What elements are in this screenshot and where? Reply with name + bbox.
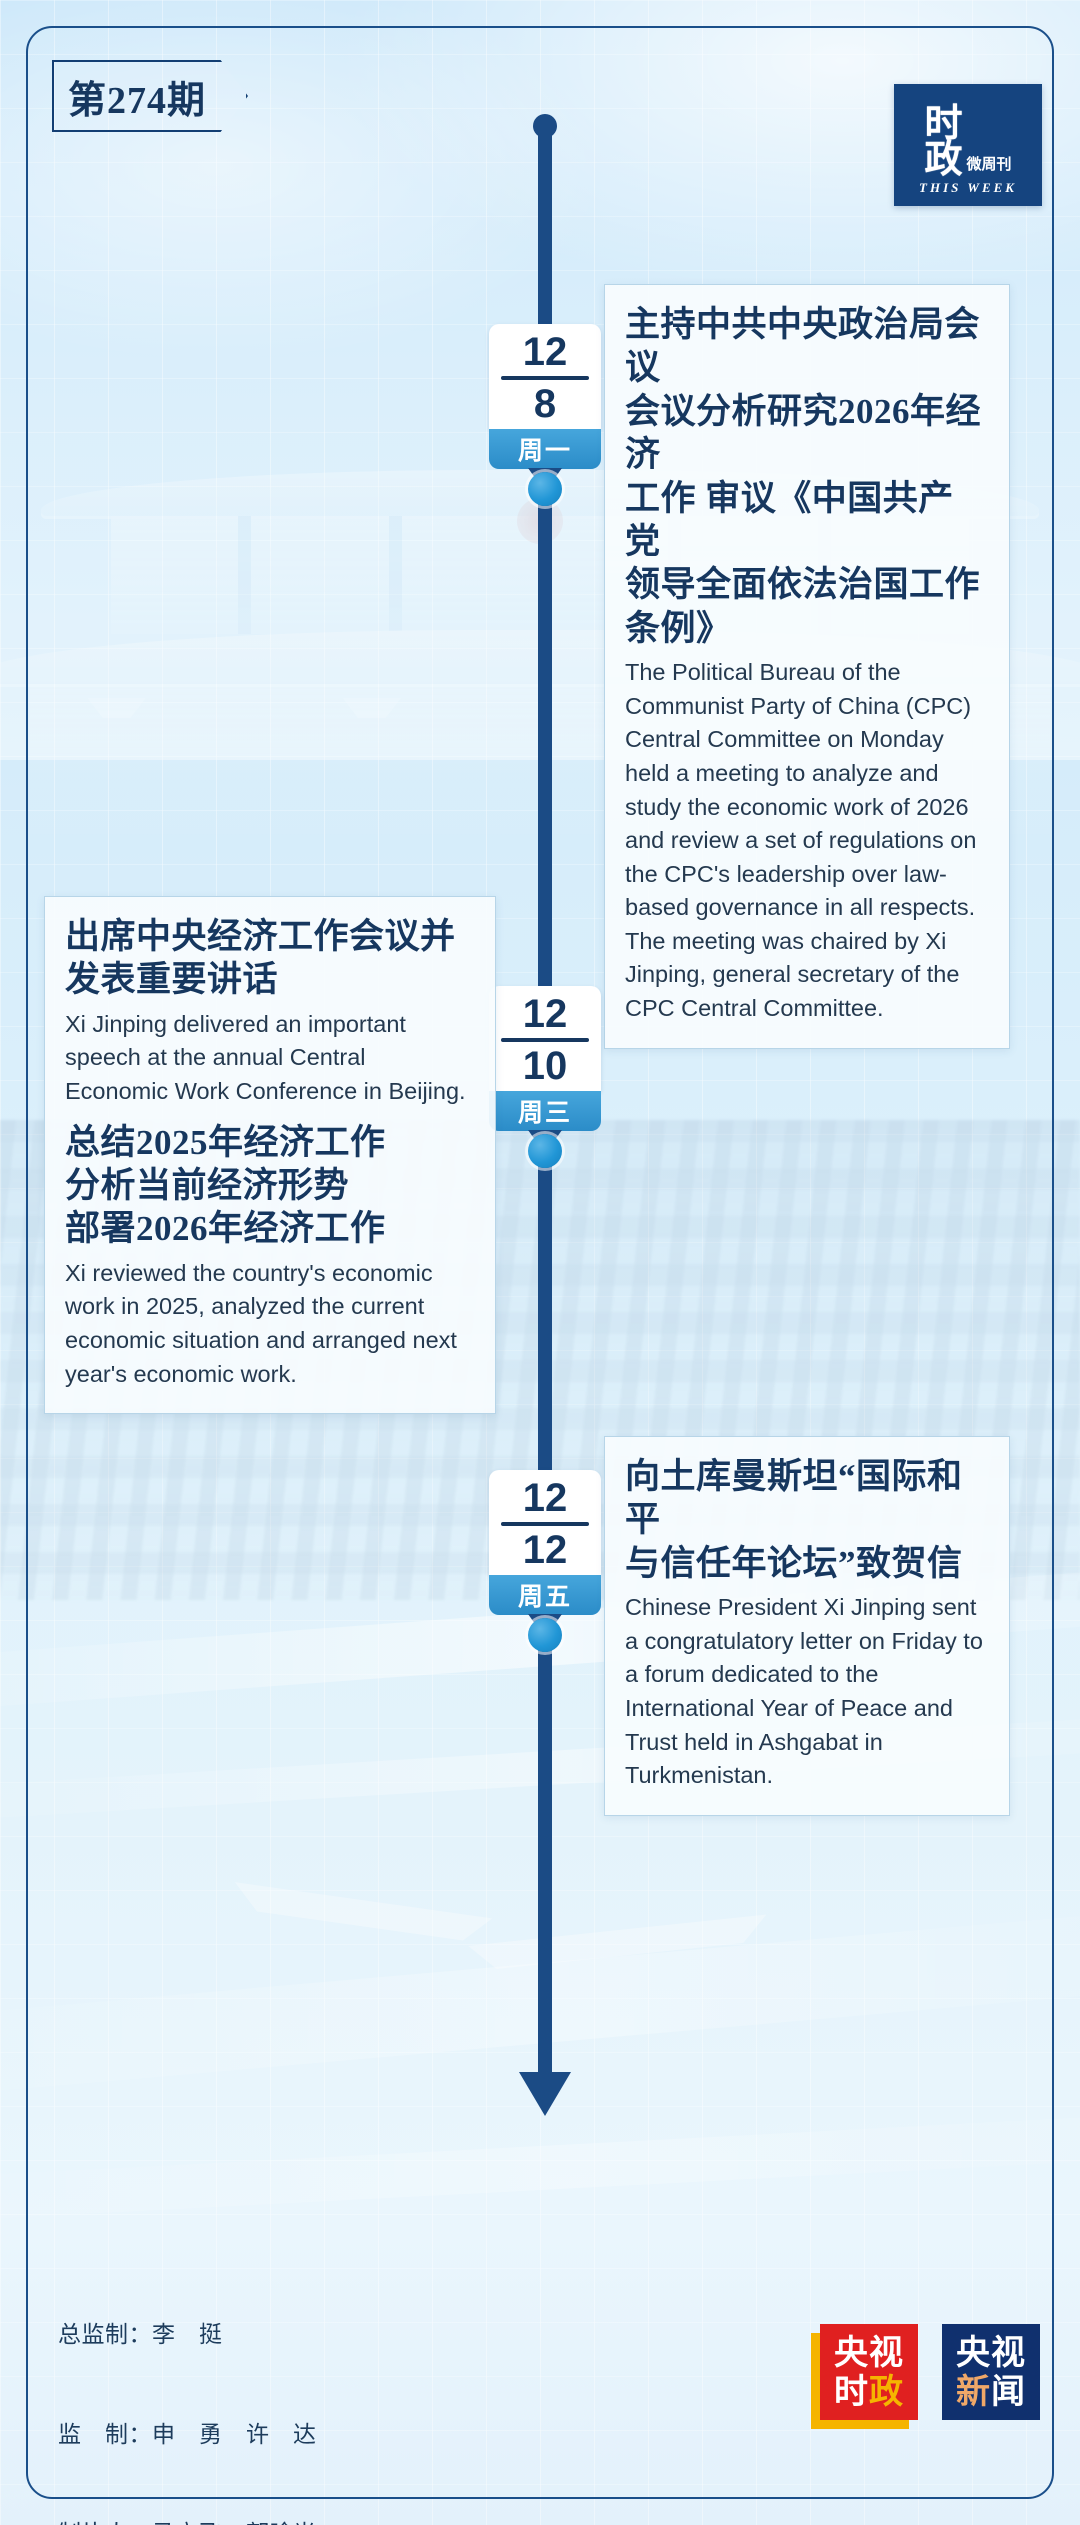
event-card[interactable]: 主持中共中央政治局会议 会议分析研究2026年经济 工作 审议《中国共产党 领导… bbox=[604, 284, 1010, 1049]
poster-root: 第274期 时 政 微周刊 THIS WEEK 12 8 周一 主持中共中央政治… bbox=[0, 0, 1080, 2525]
event-body-en: The Political Bureau of the Communist Pa… bbox=[625, 656, 989, 1026]
cctv-politics-logo-char-shi: 时 bbox=[834, 2373, 869, 2411]
date-badge-card: 12 10 bbox=[489, 986, 601, 1091]
light-streak bbox=[0, 2109, 1080, 2224]
chevron-decoration bbox=[228, 1882, 493, 1970]
brand-logo: 时 政 微周刊 THIS WEEK bbox=[894, 84, 1042, 206]
credit-line: 总监制：李 挺 bbox=[58, 2318, 434, 2351]
date-weekday: 周五 bbox=[489, 1575, 601, 1615]
brand-char-1: 时 bbox=[924, 106, 961, 142]
event-subtitle-cn: 总结2025年经济工作 分析当前经济形势 部署2026年经济工作 bbox=[65, 1121, 475, 1251]
event-card[interactable]: 向土库曼斯坦“国际和平 与信任年论坛”致贺信 Chinese President… bbox=[604, 1436, 1010, 1816]
date-badge-card: 12 8 bbox=[489, 324, 601, 429]
chevron-decoration bbox=[468, 1914, 772, 1997]
date-day: 10 bbox=[499, 1045, 591, 1087]
credit-line: 制片人：马立飞 郭晗光 bbox=[58, 2517, 434, 2525]
hall-column bbox=[389, 516, 402, 634]
date-divider bbox=[501, 1038, 589, 1042]
date-badge-card: 12 12 bbox=[489, 1470, 601, 1575]
brand-logo-subtitle: 微周刊 bbox=[967, 158, 1012, 178]
date-month: 12 bbox=[499, 1478, 591, 1522]
credits-block: 总监制：李 挺 监 制：申 勇 许 达 制片人：马立飞 郭晗光 编 导：朱 超 … bbox=[58, 2252, 434, 2525]
date-badge[interactable]: 12 10 周三 bbox=[489, 986, 601, 1131]
hall-lamp bbox=[88, 698, 146, 718]
timeline-dot bbox=[528, 1618, 562, 1652]
event-card[interactable]: 出席中央经济工作会议并 发表重要讲话 Xi Jinping delivered … bbox=[44, 896, 496, 1414]
event-body-en: Xi Jinping delivered an important speech… bbox=[65, 1008, 475, 1109]
brand-logo-main: 时 政 微周刊 bbox=[924, 94, 1011, 178]
date-weekday: 周一 bbox=[489, 429, 601, 469]
date-divider bbox=[501, 1522, 589, 1526]
cctv-politics-logo-line2: 时政 bbox=[834, 2375, 904, 2409]
cctv-news-logo-char-wen: 闻 bbox=[991, 2373, 1026, 2411]
cctv-news-logo[interactable]: 央视 新闻 bbox=[942, 2324, 1040, 2420]
date-month: 12 bbox=[499, 994, 591, 1038]
brand-logo-english: THIS WEEK bbox=[919, 180, 1017, 196]
event-body-en-secondary: Xi reviewed the country's economic work … bbox=[65, 1257, 475, 1391]
credit-line: 监 制：申 勇 许 达 bbox=[58, 2418, 434, 2451]
cctv-politics-logo-char-zheng: 政 bbox=[869, 2373, 904, 2411]
event-title-cn: 主持中共中央政治局会议 会议分析研究2026年经济 工作 审议《中国共产党 领导… bbox=[625, 303, 989, 650]
hall-column bbox=[238, 516, 251, 634]
timeline-dot bbox=[528, 1134, 562, 1168]
cctv-news-logo-line2: 新闻 bbox=[956, 2375, 1026, 2409]
event-title-cn: 向土库曼斯坦“国际和平 与信任年论坛”致贺信 bbox=[625, 1455, 989, 1585]
hall-lamp bbox=[343, 698, 401, 718]
cctv-news-logo-line1: 央视 bbox=[956, 2336, 1026, 2370]
date-badge[interactable]: 12 8 周一 bbox=[489, 324, 601, 469]
date-day: 8 bbox=[499, 383, 591, 425]
date-weekday: 周三 bbox=[489, 1091, 601, 1131]
event-title-cn: 出席中央经济工作会议并 发表重要讲话 bbox=[65, 915, 475, 1002]
timeline-arrow-icon bbox=[519, 2072, 571, 2116]
cctv-politics-logo-line1: 央视 bbox=[834, 2336, 904, 2370]
footer-logos: 央视 时政 央视 新闻 bbox=[820, 2324, 1040, 2420]
date-divider bbox=[501, 376, 589, 380]
timeline-dot bbox=[528, 472, 562, 506]
brand-logo-characters: 时 政 bbox=[924, 106, 961, 178]
cctv-news-logo-char-xin: 新 bbox=[956, 2373, 991, 2411]
brand-char-2: 政 bbox=[924, 142, 961, 178]
date-month: 12 bbox=[499, 332, 591, 376]
issue-number-label: 第274期 bbox=[52, 60, 222, 132]
event-body-en: Chinese President Xi Jinping sent a cong… bbox=[625, 1591, 989, 1793]
date-badge[interactable]: 12 12 周五 bbox=[489, 1470, 601, 1615]
cctv-politics-logo[interactable]: 央视 时政 bbox=[820, 2324, 918, 2420]
date-day: 12 bbox=[499, 1529, 591, 1571]
issue-number-badge: 第274期 bbox=[52, 60, 248, 132]
